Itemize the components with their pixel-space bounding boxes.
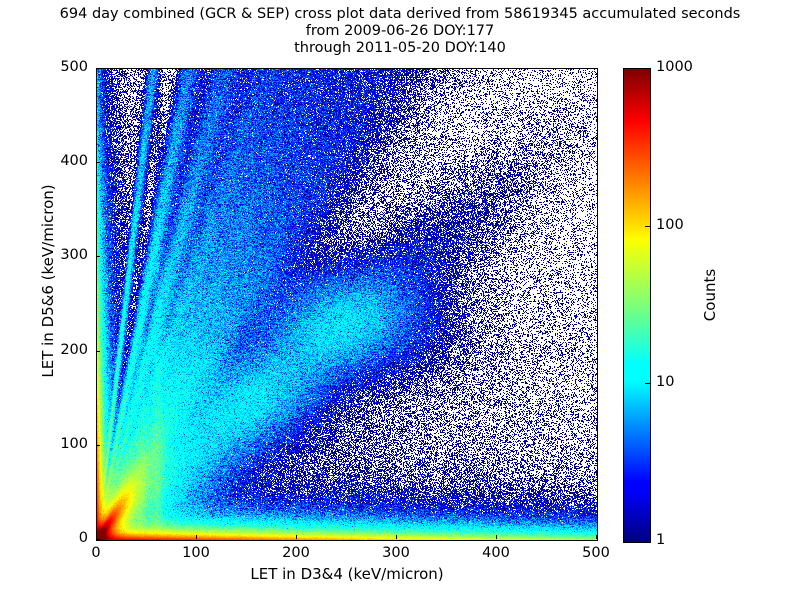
colorbar — [623, 68, 651, 543]
x-tickmark — [396, 535, 397, 539]
x-tick-label: 200 — [256, 545, 336, 561]
x-tick-label: 300 — [356, 545, 436, 561]
colorbar-tickmark — [645, 226, 650, 227]
plot-area — [96, 68, 598, 541]
density-heatmap — [97, 69, 597, 540]
figure-canvas: 694 day combined (GCR & SEP) cross plot … — [0, 0, 800, 600]
y-tick-label: 500 — [18, 59, 88, 75]
y-tick-label: 100 — [18, 436, 88, 452]
colorbar-tick-label: 1 — [656, 532, 665, 548]
colorbar-tick-label: 100 — [656, 217, 684, 233]
x-tickmark — [596, 535, 597, 539]
x-tickmark — [296, 535, 297, 539]
x-tick-label: 100 — [156, 545, 236, 561]
y-tickmark — [96, 68, 100, 69]
x-tick-label: 0 — [56, 545, 136, 561]
colorbar-tick-label: 1000 — [656, 59, 693, 75]
y-tick-label: 0 — [18, 530, 88, 546]
y-axis-label: LET in D5&6 (keV/micron) — [39, 161, 57, 401]
figure-title-line-3: through 2011-05-20 DOY:140 — [0, 40, 800, 57]
y-tickmark — [96, 539, 100, 540]
figure-title-line-2: from 2009-06-26 DOY:177 — [0, 23, 800, 40]
y-tickmark — [96, 162, 100, 163]
colorbar-tick-label: 10 — [656, 374, 674, 390]
figure-title-line-1: 694 day combined (GCR & SEP) cross plot … — [0, 6, 800, 23]
x-tickmark — [196, 535, 197, 539]
x-axis-label: LET in D3&4 (keV/micron) — [96, 565, 598, 583]
colorbar-gradient — [624, 69, 650, 542]
colorbar-label: Counts — [701, 205, 719, 385]
y-tickmark — [96, 351, 100, 352]
x-tick-label: 400 — [456, 545, 536, 561]
colorbar-tickmark — [645, 383, 650, 384]
x-tick-label: 500 — [556, 545, 636, 561]
y-tickmark — [96, 445, 100, 446]
y-tickmark — [96, 256, 100, 257]
x-tickmark — [496, 535, 497, 539]
